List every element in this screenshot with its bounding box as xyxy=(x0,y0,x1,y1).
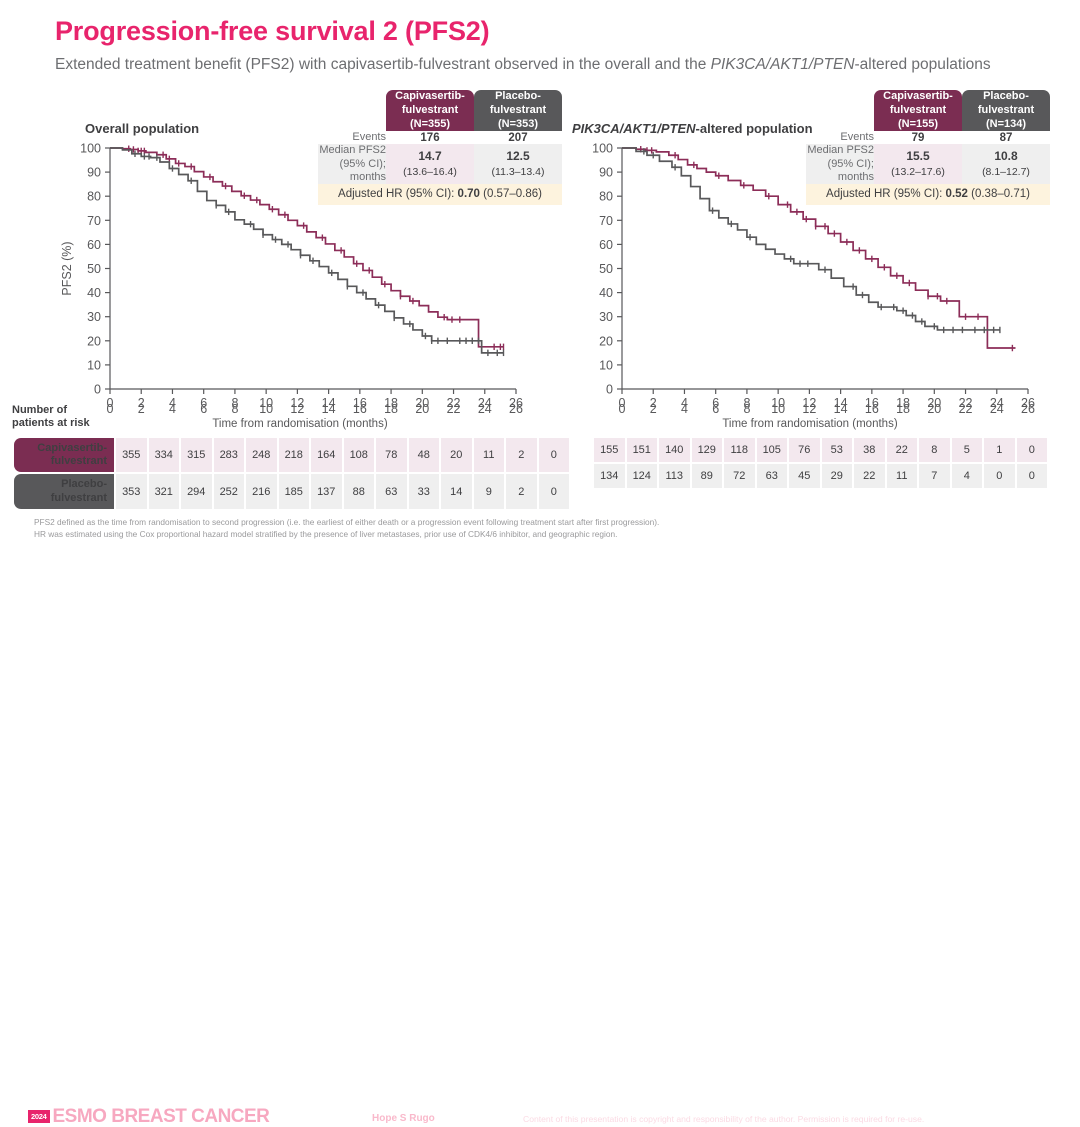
at-risk-value: 321 xyxy=(149,474,180,508)
copyright-notice: Content of this presentation is copyrigh… xyxy=(523,1114,924,1124)
km-plot-altered: 0246810121416182022242601020304050607080… xyxy=(570,140,1040,425)
at-risk-value: 124 xyxy=(627,464,658,488)
stats-header-row: Capivasertib- fulvestrant (N=155) Placeb… xyxy=(806,90,1050,131)
at-risk-value: 76 xyxy=(789,438,820,462)
x-axis-label-altered: Time from randomisation (months) xyxy=(660,418,960,430)
at-risk-row-label: Capivasertib-fulvestrant xyxy=(14,438,114,472)
svg-text:10: 10 xyxy=(87,358,101,372)
at-risk-time: 16 xyxy=(858,402,886,416)
at-risk-time: 10 xyxy=(252,402,280,416)
at-risk-value: 216 xyxy=(246,474,277,508)
at-risk-table-altered: 1551511401291181057653382285101341241138… xyxy=(592,436,1049,490)
svg-text:20: 20 xyxy=(87,334,101,348)
at-risk-value: 248 xyxy=(246,438,277,472)
subtitle-text-1: Extended treatment benefit (PFS2) with c… xyxy=(55,56,711,73)
at-risk-time: 4 xyxy=(158,402,186,416)
at-risk-value: 2 xyxy=(506,438,537,472)
svg-text:30: 30 xyxy=(87,310,101,324)
at-risk-time: 20 xyxy=(920,402,948,416)
at-risk-row: 134124113897263452922117400 xyxy=(594,464,1047,488)
at-risk-time: 10 xyxy=(764,402,792,416)
at-risk-time: 12 xyxy=(283,402,311,416)
svg-text:70: 70 xyxy=(599,214,613,228)
at-risk-time: 18 xyxy=(377,402,405,416)
page-title: Progression-free survival 2 (PFS2) xyxy=(55,16,489,47)
at-risk-row: Capivasertib-fulvestrant3553343152832482… xyxy=(14,438,569,472)
svg-text:0: 0 xyxy=(94,383,101,397)
slide-root: Progression-free survival 2 (PFS2) Exten… xyxy=(0,0,1080,591)
at-risk-value: 140 xyxy=(659,438,690,462)
svg-text:30: 30 xyxy=(599,310,613,324)
svg-text:80: 80 xyxy=(87,190,101,204)
svg-text:PFS2 (%): PFS2 (%) xyxy=(60,241,74,295)
at-risk-value: 0 xyxy=(1017,438,1048,462)
footnote-2: HR was estimated using the Cox proportio… xyxy=(34,528,1054,540)
at-risk-value: 7 xyxy=(919,464,950,488)
at-risk-time: 24 xyxy=(983,402,1011,416)
footnote-1: PFS2 defined as the time from randomisat… xyxy=(34,516,1054,528)
panel-heading-altered: PIK3CA/AKT1/PTEN-altered population xyxy=(572,121,813,136)
at-risk-value: 22 xyxy=(887,438,918,462)
at-risk-time: 14 xyxy=(827,402,855,416)
at-risk-row: Placebo-fulvestrant353321294252216185137… xyxy=(14,474,569,508)
at-risk-value: 4 xyxy=(952,464,983,488)
at-risk-value: 355 xyxy=(116,438,147,472)
at-risk-value: 0 xyxy=(1017,464,1048,488)
svg-text:70: 70 xyxy=(87,214,101,228)
stats-header-capivasertib: Capivasertib- fulvestrant (N=355) xyxy=(386,90,474,131)
at-risk-value: 1 xyxy=(984,438,1015,462)
at-risk-value: 88 xyxy=(344,474,375,508)
at-risk-value: 185 xyxy=(279,474,310,508)
at-risk-value: 108 xyxy=(344,438,375,472)
at-risk-value: 353 xyxy=(116,474,147,508)
footnotes: PFS2 defined as the time from randomisat… xyxy=(34,516,1054,541)
panel-heading-genes: PIK3CA/AKT1/PTEN xyxy=(572,121,696,136)
at-risk-value: 72 xyxy=(724,464,755,488)
at-risk-time: 26 xyxy=(1014,402,1042,416)
svg-text:90: 90 xyxy=(87,166,101,180)
at-risk-time: 4 xyxy=(670,402,698,416)
stats-header-placebo: Placebo- fulvestrant (N=134) xyxy=(962,90,1050,131)
at-risk-value: 155 xyxy=(594,438,625,462)
at-risk-value: 48 xyxy=(409,438,440,472)
svg-text:80: 80 xyxy=(599,190,613,204)
at-risk-value: 118 xyxy=(724,438,755,462)
at-risk-value: 134 xyxy=(594,464,625,488)
at-risk-value: 137 xyxy=(311,474,342,508)
at-risk-time: 26 xyxy=(502,402,530,416)
stats-header-placebo: Placebo- fulvestrant (N=353) xyxy=(474,90,562,131)
at-risk-value: 14 xyxy=(441,474,472,508)
svg-text:40: 40 xyxy=(87,286,101,300)
at-risk-value: 0 xyxy=(984,464,1015,488)
at-risk-value: 45 xyxy=(789,464,820,488)
at-risk-value: 38 xyxy=(854,438,885,462)
at-risk-value: 33 xyxy=(409,474,440,508)
svg-text:20: 20 xyxy=(599,334,613,348)
stats-header-capivasertib: Capivasertib- fulvestrant (N=155) xyxy=(874,90,962,131)
panel-heading-overall: Overall population xyxy=(85,121,199,136)
at-risk-value: 20 xyxy=(441,438,472,472)
at-risk-time: 20 xyxy=(408,402,436,416)
at-risk-value: 78 xyxy=(376,438,407,472)
at-risk-value: 2 xyxy=(506,474,537,508)
svg-text:60: 60 xyxy=(599,238,613,252)
at-risk-time: 12 xyxy=(795,402,823,416)
at-risk-time: 24 xyxy=(471,402,499,416)
at-risk-value: 151 xyxy=(627,438,658,462)
at-risk-value: 294 xyxy=(181,474,212,508)
svg-text:10: 10 xyxy=(599,358,613,372)
at-risk-value: 105 xyxy=(757,438,788,462)
at-risk-value: 5 xyxy=(952,438,983,462)
svg-text:60: 60 xyxy=(87,238,101,252)
at-risk-time: 6 xyxy=(190,402,218,416)
at-risk-row: 155151140129118105765338228510 xyxy=(594,438,1047,462)
at-risk-time: 0 xyxy=(96,402,124,416)
svg-text:0: 0 xyxy=(606,383,613,397)
svg-text:100: 100 xyxy=(592,142,613,156)
at-risk-value: 22 xyxy=(854,464,885,488)
at-risk-value: 53 xyxy=(822,438,853,462)
at-risk-value: 8 xyxy=(919,438,950,462)
at-risk-value: 218 xyxy=(279,438,310,472)
at-risk-time: 2 xyxy=(127,402,155,416)
at-risk-time: 6 xyxy=(702,402,730,416)
svg-text:50: 50 xyxy=(599,262,613,276)
at-risk-value: 89 xyxy=(692,464,723,488)
at-risk-time: 8 xyxy=(221,402,249,416)
at-risk-value: 164 xyxy=(311,438,342,472)
at-risk-time: 14 xyxy=(315,402,343,416)
page-subtitle: Extended treatment benefit (PFS2) with c… xyxy=(55,55,1055,76)
at-risk-value: 129 xyxy=(692,438,723,462)
at-risk-value: 63 xyxy=(757,464,788,488)
svg-text:90: 90 xyxy=(599,166,613,180)
at-risk-time: 18 xyxy=(889,402,917,416)
at-risk-value: 334 xyxy=(149,438,180,472)
at-risk-time: 2 xyxy=(639,402,667,416)
at-risk-value: 11 xyxy=(474,438,505,472)
esmo-logo: 2024 ESMO BREAST CANCER xyxy=(28,1107,269,1126)
footer: 2024 ESMO BREAST CANCER Hope S Rugo Cont… xyxy=(0,551,1080,591)
stats-header-row: Capivasertib- fulvestrant (N=355) Placeb… xyxy=(318,90,562,131)
panel-heading-rest: -altered population xyxy=(696,121,813,136)
at-risk-row-label: Placebo-fulvestrant xyxy=(14,474,114,508)
at-risk-value: 283 xyxy=(214,438,245,472)
subtitle-genes: PIK3CA/AKT1/PTEN xyxy=(711,56,855,73)
at-risk-value: 11 xyxy=(887,464,918,488)
at-risk-time: 16 xyxy=(346,402,374,416)
at-risk-table-overall: Capivasertib-fulvestrant3553343152832482… xyxy=(12,436,571,511)
svg-text:100: 100 xyxy=(80,142,101,156)
at-risk-value: 113 xyxy=(659,464,690,488)
at-risk-value: 315 xyxy=(181,438,212,472)
svg-text:40: 40 xyxy=(599,286,613,300)
subtitle-text-2: -altered populations xyxy=(855,56,991,73)
at-risk-value: 29 xyxy=(822,464,853,488)
at-risk-value: 9 xyxy=(474,474,505,508)
logo-year: 2024 xyxy=(28,1110,50,1124)
at-risk-time: 22 xyxy=(952,402,980,416)
logo-text: ESMO BREAST CANCER xyxy=(53,1107,270,1126)
at-risk-time: 8 xyxy=(733,402,761,416)
x-axis-label-overall: Time from randomisation (months) xyxy=(150,418,450,430)
at-risk-title: Number of patients at risk xyxy=(12,404,108,430)
at-risk-value: 63 xyxy=(376,474,407,508)
at-risk-time: 22 xyxy=(440,402,468,416)
at-risk-value: 0 xyxy=(539,438,570,472)
svg-text:50: 50 xyxy=(87,262,101,276)
presenter-name: Hope S Rugo xyxy=(372,1113,435,1124)
at-risk-time: 0 xyxy=(608,402,636,416)
at-risk-value: 252 xyxy=(214,474,245,508)
km-plot-overall: 0246810121416182022242601020304050607080… xyxy=(58,140,528,425)
at-risk-value: 0 xyxy=(539,474,570,508)
